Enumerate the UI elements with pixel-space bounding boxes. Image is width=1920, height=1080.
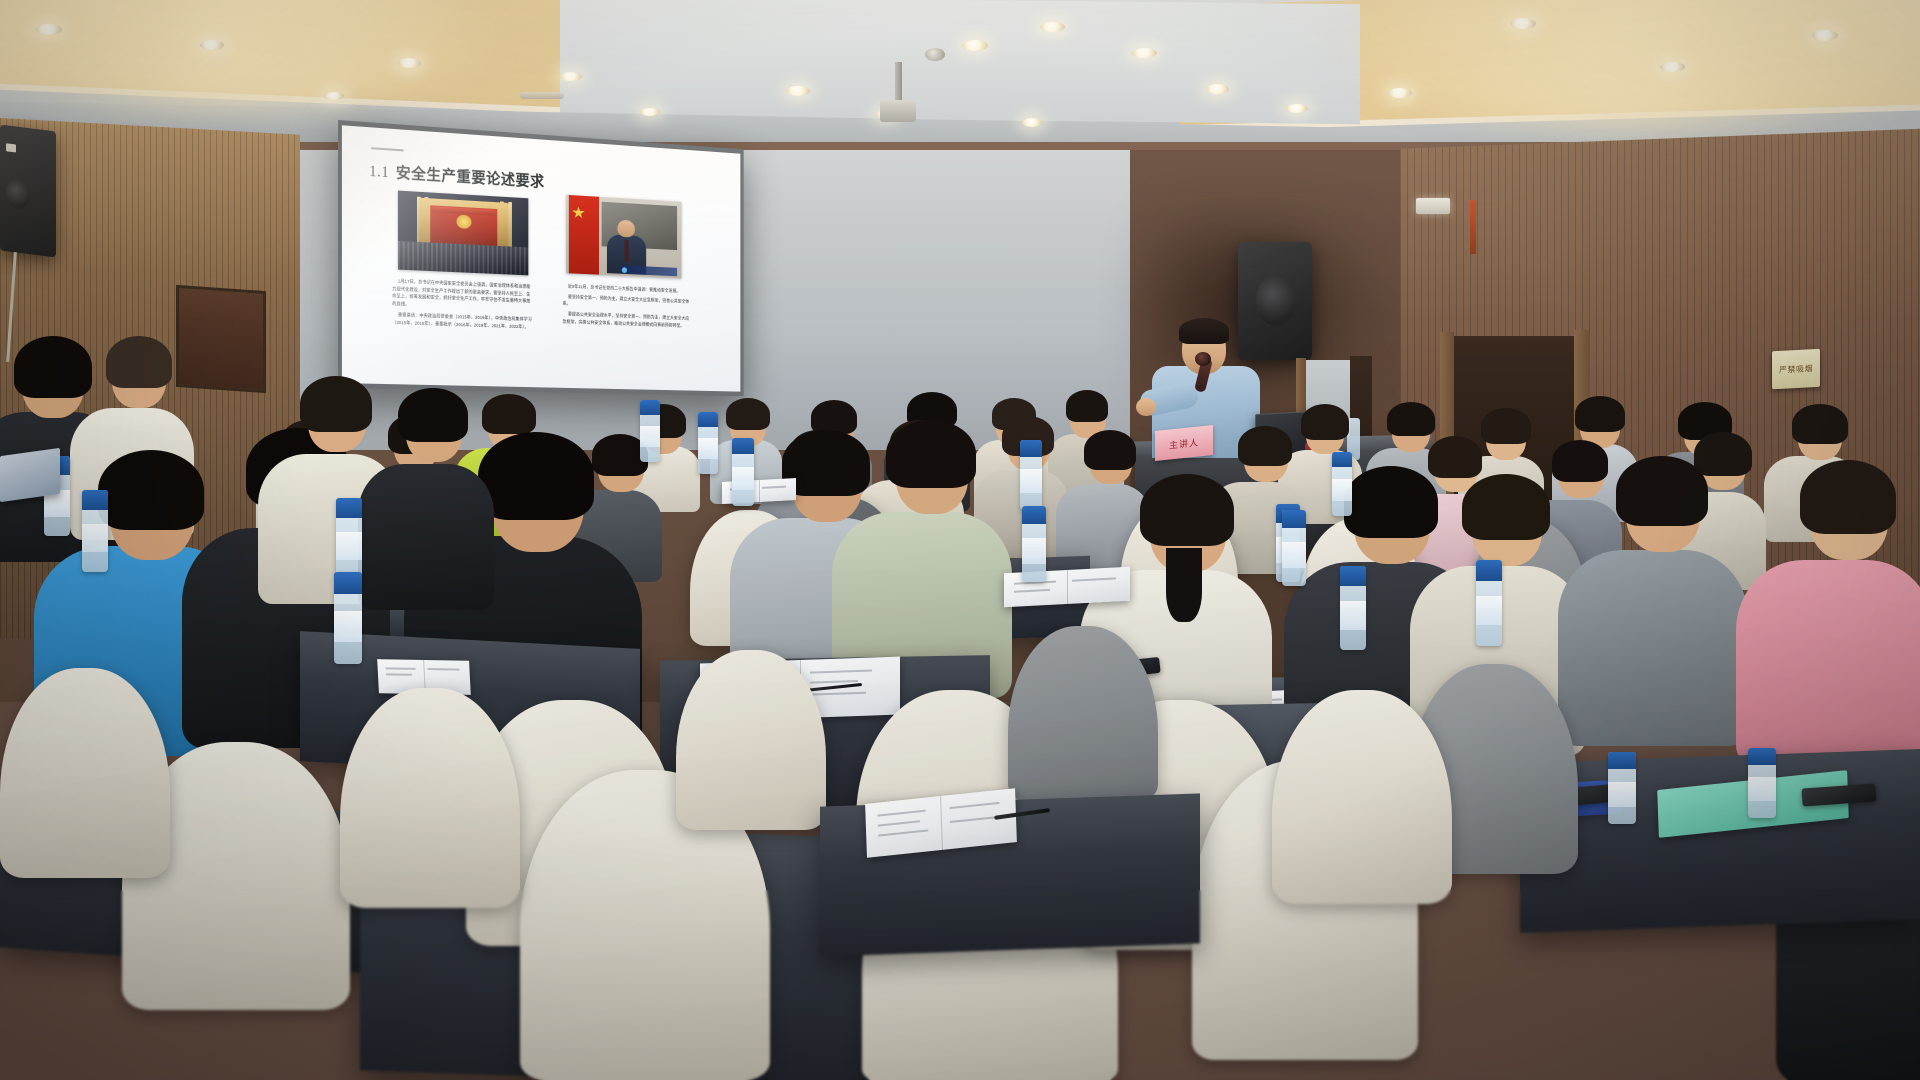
water-bottle[interactable] [1748,748,1776,818]
ceiling-downlight [786,86,810,96]
slide-text-left-column: 1月17日，总书记在中央国家安全委员会上强调，国家治理体系和治理能力现代化建设，… [392,277,534,333]
water-bottle[interactable] [640,400,660,462]
projection-screen: 1.1安全生产重要论述要求 [338,120,744,396]
projector-mount [880,100,916,122]
ceiling-downlight [324,92,344,100]
water-bottle[interactable] [1332,452,1352,516]
water-bottle[interactable] [1476,560,1502,646]
presenter-nameplate: 主讲人 [1155,425,1213,461]
ceiling-downlight [1510,18,1536,29]
ceiling-downlight [1660,62,1685,72]
ponytail [1166,548,1202,622]
ceiling-downlight [36,24,62,35]
smoke-detector-icon [925,48,945,61]
projector-rod [895,62,902,104]
ceiling-downlight [1040,22,1065,32]
ceiling-downlight [962,40,988,51]
ceiling-downlight [1286,104,1308,113]
water-bottle[interactable] [732,438,754,506]
ceiling-center-panel [560,0,1360,124]
water-bottle[interactable] [1020,440,1042,510]
ceiling-downlight [560,72,582,81]
slide-paragraph: 要提高公共安全治理水平，坚持安全第一、预防为主，建立大安全大应急框架，完善公共安… [563,310,690,329]
wall-red-strip [1470,200,1476,254]
slide-image-congress-hall [398,191,528,276]
water-bottle[interactable] [1282,510,1306,586]
wall-speaker-left [0,125,56,258]
slide-title: 1.1安全生产重要论述要求 [369,159,544,192]
attendee-table [1520,749,1920,933]
water-bottle[interactable] [334,572,362,664]
slide-paragraph: 要坚持安全第一、预防为主，建立大安全大应急框架，完善公共安全体系。 [563,293,690,313]
ceiling-downlight [398,58,421,68]
ceiling-downlight [1022,118,1042,127]
water-bottle[interactable] [698,412,718,474]
water-bottle[interactable] [82,490,108,572]
emergency-exit-light [1416,198,1450,214]
water-bottle[interactable] [336,498,362,580]
slide-text-right-column: 近9年11月，总书记在党的二十大报告中强调：要推动安全发展。 要坚持安全第一、预… [563,283,690,333]
water-bottle[interactable] [1608,752,1636,824]
slide-surface: 1.1安全生产重要论述要求 [342,125,740,391]
conference-room-photo: 严禁吸烟 1.1安全生产重要论述要求 [0,0,1920,1080]
water-bottle[interactable] [1022,506,1046,582]
wall-panel-decor [176,285,266,393]
wall-sign: 严禁吸烟 [1772,349,1820,390]
ceiling-downlight [1206,84,1229,94]
ceiling-air-vent [520,92,564,99]
ceiling-downlight [1388,88,1412,98]
ceiling-downlight [1812,30,1838,41]
slide-rule-line [371,147,404,151]
presenter-nameplate-label: 主讲人 [1169,435,1199,451]
slide-number: 1.1 [369,163,389,181]
slide-paragraph: 重要讲话：中央政治局常委会（2015年、2019年）、中央政治局集体学习（201… [392,311,534,331]
ceiling-downlight [200,40,224,50]
attendee-laptop[interactable] [0,448,60,502]
presenter-hair [1179,318,1229,344]
water-bottle[interactable] [1340,566,1366,650]
slide-title-text: 安全生产重要论述要求 [396,165,545,191]
presenter-hand [1136,398,1156,416]
ceiling-downlight [640,108,660,116]
wall-sign-label: 严禁吸烟 [1779,363,1813,376]
wall-speaker-right [1238,242,1312,360]
slide-image-broadcast [566,195,681,279]
microphone-head-icon [1195,352,1211,366]
ceiling-downlight [1132,48,1157,58]
slide-paragraph: 1月17日，总书记在中央国家安全委员会上强调，国家治理体系和治理能力现代化建设，… [392,277,534,313]
